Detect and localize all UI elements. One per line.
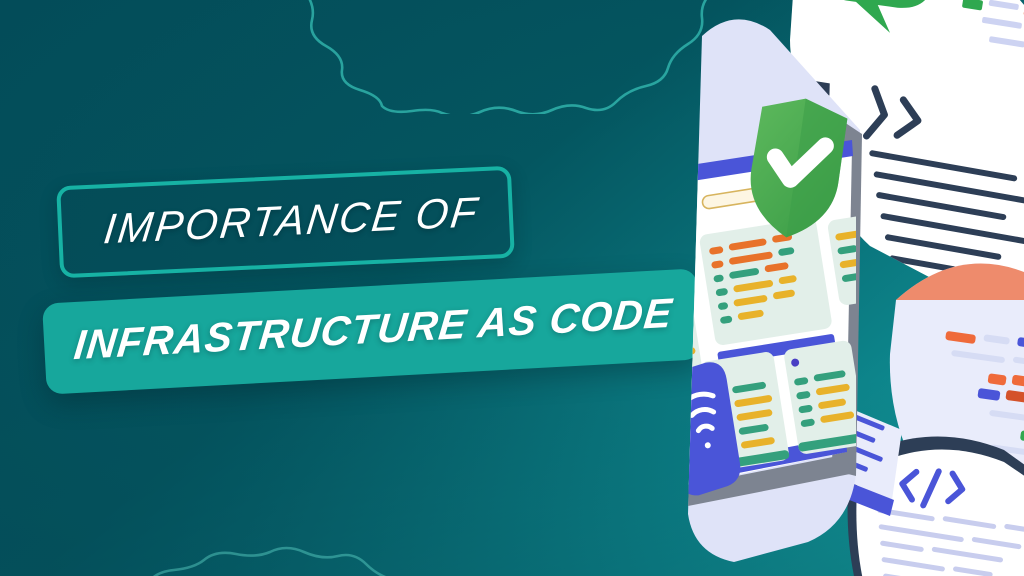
headline-badge-line1: IMPORTANCE OF — [56, 166, 514, 279]
mini-chart-marks — [630, 426, 692, 468]
headline-group: IMPORTANCE OF INFRASTRUCTURE AS CODE — [36, 168, 636, 418]
illustration-group — [584, 0, 1024, 576]
headline-line1-text: IMPORTANCE OF — [101, 188, 481, 253]
poster-canvas: IMPORTANCE OF INFRASTRUCTURE AS CODE — [0, 0, 1024, 576]
